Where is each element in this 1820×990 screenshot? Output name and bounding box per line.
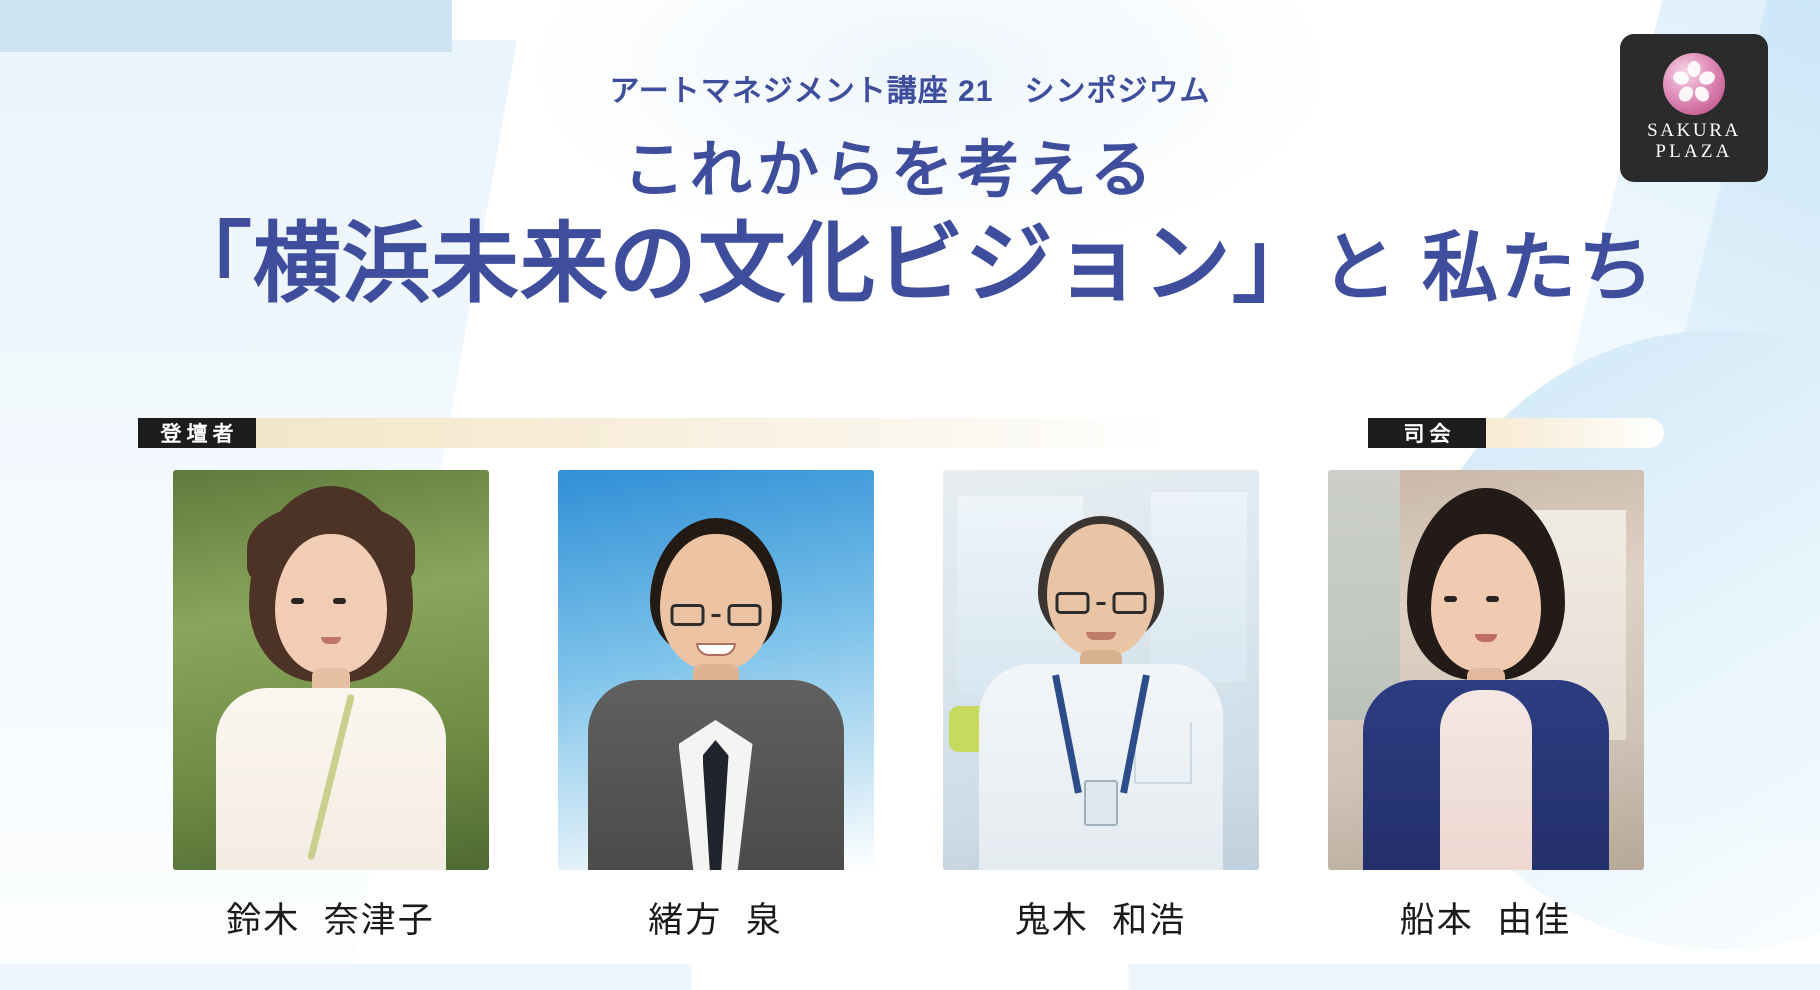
symposium-slide: SAKURA PLAZA アートマネジメント講座 21 シンポジウム これからを… [0,0,1820,990]
host-photo-funamoto-yuka [1328,470,1644,870]
title-line-1: これからを考える [0,140,1820,202]
speaker-card: 緒方 泉 [523,470,908,950]
title-line-2-tail: と 私たち [1321,226,1656,311]
speaker-card: 鬼木 和浩 [908,470,1293,950]
logo-line-1: SAKURA [1647,121,1741,142]
logo-line-2: PLAZA [1647,142,1741,163]
host-card: 船本 由佳 [1293,470,1678,950]
speaker-photo-ogata-izumi [558,470,874,870]
role-bar-host: 司会 [1368,418,1664,448]
eyebrow-text: アートマネジメント講座 21 シンポジウム [0,66,1820,110]
speaker-list: 鈴木 奈津子 緒方 泉 [138,470,1678,950]
speaker-name: 鈴木 奈津子 [226,892,434,943]
role-chip-host: 司会 [1368,418,1486,448]
background-top-left-band [0,0,452,52]
speaker-name: 鬼木 和浩 [1015,892,1186,943]
title-line-2: 「横浜未来の文化ビジョン」と 私たち [0,218,1820,310]
bottom-band [0,964,1820,990]
role-bar-speakers: 登壇者 [138,418,1168,448]
title-line-2-main: 「横浜未来の文化ビジョン」 [164,214,1321,313]
speaker-card: 鈴木 奈津子 [138,470,523,950]
sakura-plaza-logo: SAKURA PLAZA [1620,34,1768,182]
sakura-blossom-icon [1663,53,1725,115]
speaker-photo-oniki-kazuhiro [943,470,1259,870]
logo-wordmark: SAKURA PLAZA [1647,121,1741,162]
speaker-photo-suzuki-natsuko [173,470,489,870]
host-name: 船本 由佳 [1400,892,1571,943]
role-chip-speakers: 登壇者 [138,418,256,448]
speaker-name: 緒方 泉 [648,892,782,943]
